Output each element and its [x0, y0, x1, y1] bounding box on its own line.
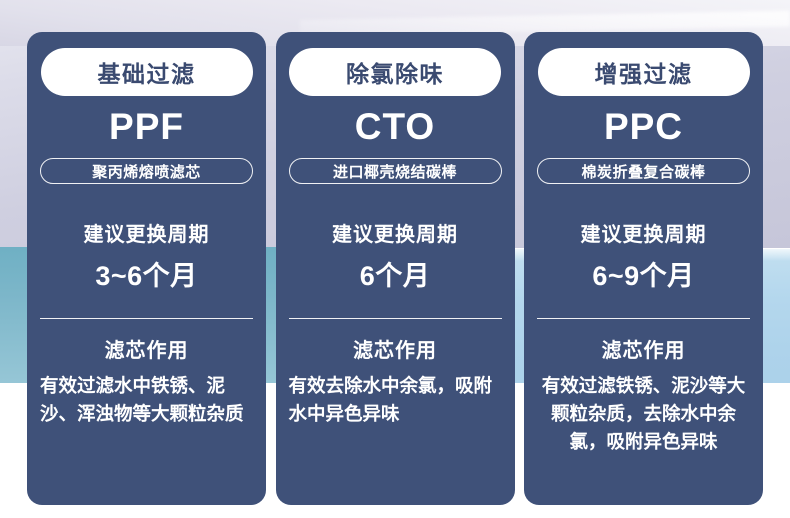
replacement-cycle-label: 建议更换周期	[84, 218, 210, 247]
filter-cartridge-card-list: 基础过滤 PPF 聚丙烯熔喷滤芯 建议更换周期 3~6个月 滤芯作用 有效过滤水…	[0, 0, 790, 518]
cartridge-material-pill: 棉炭折叠复合碳棒	[537, 158, 750, 184]
replacement-cycle-value: 3~6个月	[95, 254, 197, 293]
filter-card-ppc[interactable]: 增强过滤 PPC 棉炭折叠复合碳棒 建议更换周期 6~9个月 滤芯作用 有效过滤…	[524, 32, 763, 505]
card-header-pill: 基础过滤	[41, 48, 253, 96]
card-divider	[289, 318, 502, 319]
card-header-pill: 除氯除味	[289, 48, 501, 96]
cartridge-code: PPF	[109, 108, 184, 145]
card-divider	[537, 318, 750, 319]
function-description: 有效去除水中余氯，吸附水中异色异味	[289, 372, 502, 428]
cartridge-material-pill: 进口椰壳烧结碳棒	[289, 158, 502, 184]
function-label: 滤芯作用	[602, 334, 686, 363]
cartridge-material-pill: 聚丙烯熔喷滤芯	[40, 158, 253, 184]
card-header-pill: 增强过滤	[538, 48, 750, 96]
filter-card-ppf[interactable]: 基础过滤 PPF 聚丙烯熔喷滤芯 建议更换周期 3~6个月 滤芯作用 有效过滤水…	[27, 32, 266, 505]
replacement-cycle-label: 建议更换周期	[581, 218, 707, 247]
function-label: 滤芯作用	[105, 334, 189, 363]
filter-card-cto[interactable]: 除氯除味 CTO 进口椰壳烧结碳棒 建议更换周期 6个月 滤芯作用 有效去除水中…	[276, 32, 515, 505]
cartridge-code: CTO	[355, 108, 435, 145]
cartridge-code: PPC	[604, 108, 683, 145]
replacement-cycle-value: 6~9个月	[592, 254, 694, 293]
replacement-cycle-label: 建议更换周期	[332, 218, 458, 247]
card-divider	[40, 318, 253, 319]
replacement-cycle-value: 6个月	[360, 254, 431, 293]
function-description: 有效过滤水中铁锈、泥沙、浑浊物等大颗粒杂质	[40, 372, 253, 428]
function-description: 有效过滤铁锈、泥沙等大颗粒杂质，去除水中余氯，吸附异色异味	[537, 372, 750, 455]
function-label: 滤芯作用	[353, 334, 437, 363]
